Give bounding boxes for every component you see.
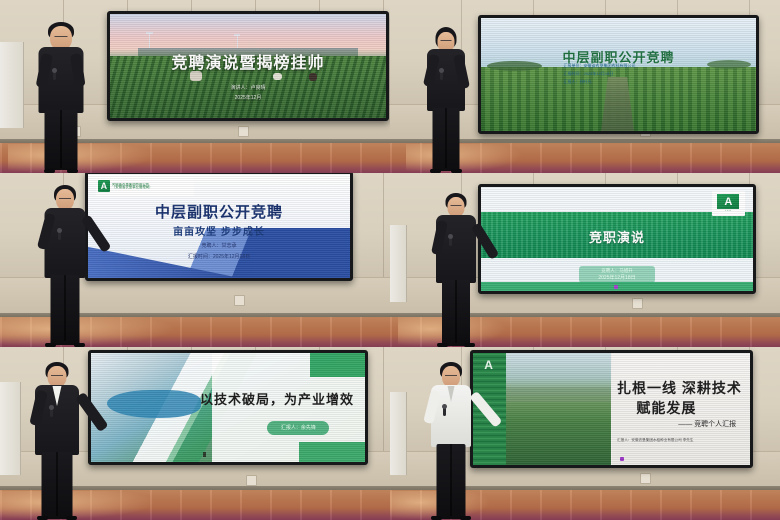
slide-4: A ▪ ▪ ▪ ▪ 竞职演说 竞聘人：马旭升 2025年12月18日 [481,187,753,291]
wall-outlet [640,473,651,484]
door [390,225,407,302]
slide-slogan: 亩亩攻坚 步步成长 [173,223,265,238]
microphone [443,407,446,416]
slide-subtitle-2: 2025年12月18日 [598,274,635,281]
panel-4: A ▪ ▪ ▪ ▪ 竞职演说 竞聘人：马旭升 2025年12月18日 [390,173,780,347]
microphone [53,71,56,80]
speaker-1 [31,18,91,173]
org-logo: A 安徽省农垦集团有限公司 （安徽省农垦事业管理局） [96,177,194,196]
slide-subtitle-1: 汇报单位：安徽省农垦集团农科有限公司 [564,63,636,69]
panel-3: A 安徽省农垦集团有限公司 （安徽省农垦事业管理局） 中层副职公开竞聘 亩亩攻坚… [0,173,390,347]
speaker-2 [422,23,470,173]
speaker-6 [424,358,478,520]
speaker-3 [38,181,92,347]
led-display: A ▪ ▪ ▪ ▪ 竞职演说 竞聘人：马旭升 2025年12月18日 [478,184,756,294]
slide-subtitle-2: 汇报时间：2025年12月18日 [188,253,250,260]
slide-1: 竞聘演说暨揭榜挂帅 演讲人：卢良晴 2025年12月 [110,14,386,118]
slide-subtitle-box: 竞聘人：马旭升 2025年12月18日 [579,266,655,283]
slide-title: 竞聘演说暨揭榜挂帅 [171,49,324,73]
led-display: 中层副职公开竞聘 汇报单位：安徽省农垦集团农科有限公司 汇报时间：2025年12… [478,15,759,134]
wall-outlet [234,295,245,306]
slide-subtitle-2: 2025年12月 [235,94,262,101]
slide-subtitle-2: 汇报时间：2025年12月18日 [564,71,614,77]
slide-title: 竞职演说 [589,227,645,246]
door [390,392,407,475]
slide-subtitle-1: 演讲人：卢良晴 [230,84,265,91]
speaker-4 [430,189,482,347]
led-display: A 扎根一线 深耕技术 赋能发展 —— 竞聘个人汇报 汇报人：安徽农垦集团水稻种… [470,350,753,468]
led-display: A 安徽省农垦集团有限公司 （安徽省农垦事业管理局） 中层副职公开竞聘 亩亩攻坚… [85,173,353,281]
logo-mark: A [717,194,739,209]
slide-byline: —— 竞聘个人汇报 [678,419,736,429]
slide-5: 以技术破局，为产业增效 汇报人：余先锋 [91,353,365,462]
slide-title-line1: 扎根一线 深耕技术 [617,378,742,398]
speaker-5 [28,358,86,520]
slide-subtitle-1: 竞聘人：甘志承 [201,242,236,249]
wall-outlet [238,126,249,137]
slide-2: 中层副职公开竞聘 汇报单位：安徽省农垦集团农科有限公司 汇报时间：2025年12… [481,18,756,131]
logo-caption: ▪ ▪ ▪ ▪ [725,210,731,213]
wall-outlet [246,475,257,486]
slide-6: A 扎根一线 深耕技术 赋能发展 —— 竞聘个人汇报 汇报人：安徽农垦集团水稻种… [473,353,750,465]
slide-title: 中层副职公开竞聘 [155,201,283,222]
door [0,382,21,475]
panel-1: 竞聘演说暨揭榜挂帅 演讲人：卢良晴 2025年12月 [0,0,390,173]
reporter-badge: 汇报人：余先锋 [267,421,329,435]
logo-mark: A [479,357,499,373]
led-display: 以技术破局，为产业增效 汇报人：余先锋 [88,350,368,465]
photo-collage: 竞聘演说暨揭榜挂帅 演讲人：卢良晴 2025年12月 [0,0,780,520]
door [0,42,24,129]
led-display: 竞聘演说暨揭榜挂帅 演讲人：卢良晴 2025年12月 [107,11,389,121]
panel-5: 以技术破局，为产业增效 汇报人：余先锋 [0,347,390,520]
slide-3: A 安徽省农垦集团有限公司 （安徽省农垦事业管理局） 中层副职公开竞聘 亩亩攻坚… [88,174,350,278]
logo-mark: A [98,180,110,192]
microphone [50,408,53,417]
wall-outlet [632,298,643,309]
slide-title: 以技术破局，为产业增效 [200,389,354,408]
panel-6: A 扎根一线 深耕技术 赋能发展 —— 竞聘个人汇报 汇报人：安徽农垦集团水稻种… [390,347,780,520]
slide-fine-print: 汇报人：安徽农垦集团水稻种业有限公司 李先生 [617,438,693,443]
slide-title-line2: 赋能发展 [636,398,696,418]
microphone [449,237,452,246]
microphone [440,71,443,80]
panel-2: 中层副职公开竞聘 汇报单位：安徽省农垦集团农科有限公司 汇报时间：2025年12… [390,0,780,173]
org-name-line2: （安徽省农垦事业管理局） [112,186,153,190]
microphone [58,231,61,240]
slide-subtitle-3: 汇报人：孙叶凡 [564,79,592,85]
org-logo: A ▪ ▪ ▪ ▪ [712,191,745,216]
